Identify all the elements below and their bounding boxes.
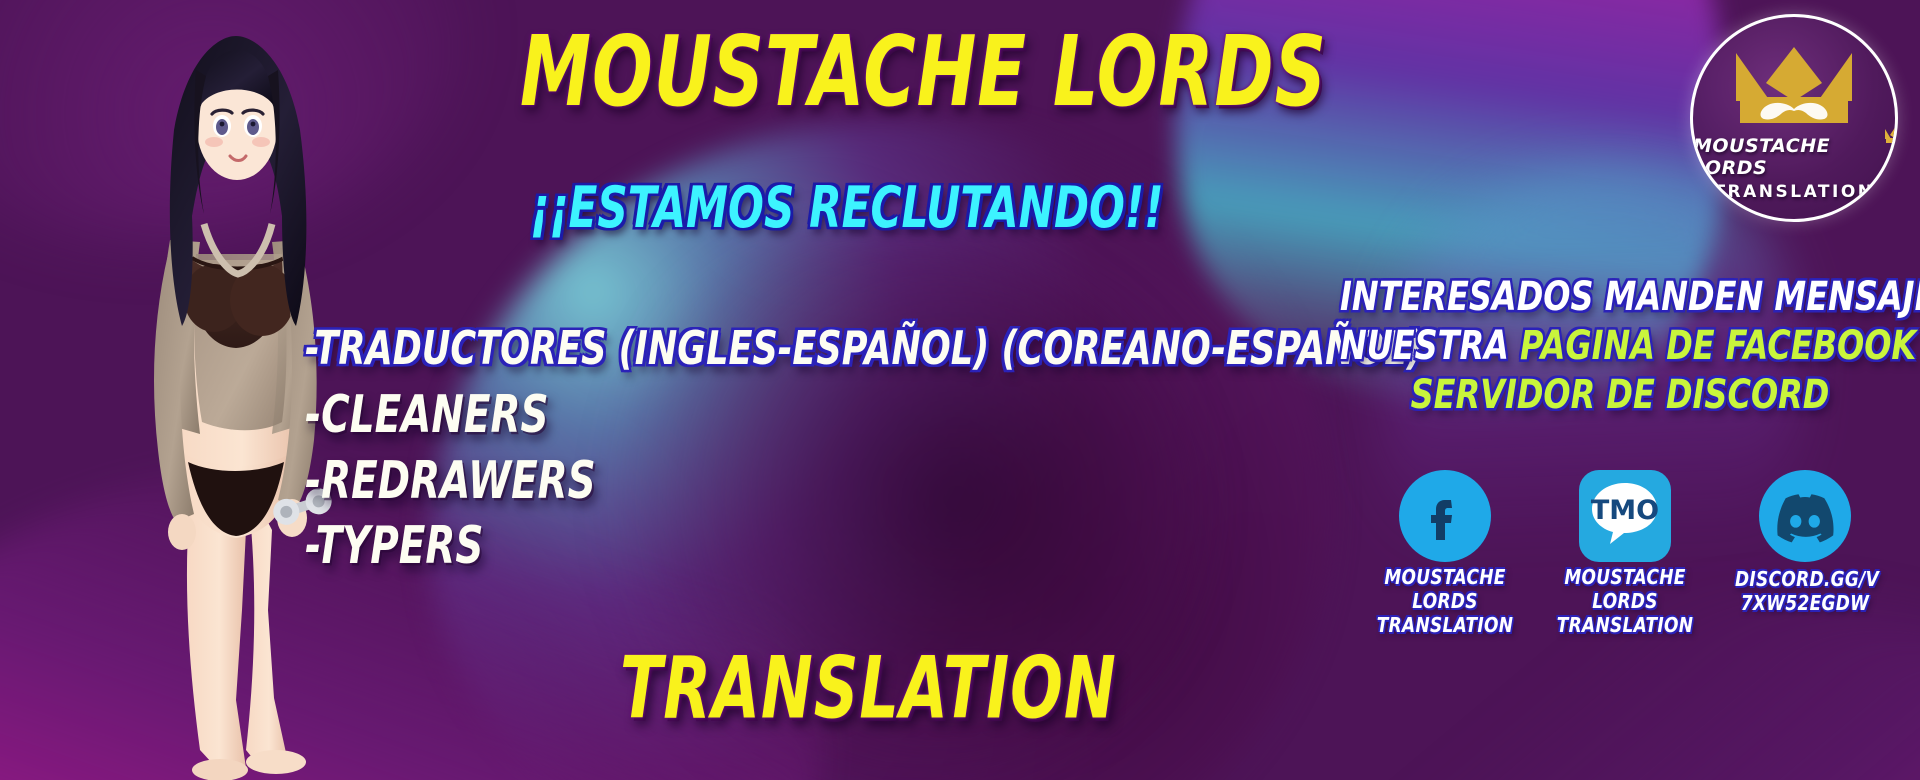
svg-text:TMO: TMO xyxy=(1591,495,1659,526)
social-tmo-label-2: LORDS xyxy=(1555,590,1695,614)
social-tmo[interactable]: TMO MOUSTACHE LORDS TRANSLATION xyxy=(1555,470,1695,632)
role-item-redrawers: -REDRAWERS xyxy=(305,455,1179,508)
page-title: MOUSTACHE LORDS xyxy=(520,14,1327,128)
social-discord-label-2: 7XW52EGDW xyxy=(1735,592,1875,616)
social-tmo-label-3: TRANSLATION xyxy=(1555,614,1695,638)
facebook-icon[interactable] xyxy=(1399,470,1491,562)
logo-text-line2: TRANSLATION xyxy=(1713,182,1874,202)
social-facebook-label-3: TRANSLATION xyxy=(1375,614,1515,638)
contact-block: INTERESADOS MANDEN MENSAJE EN NUESTRA PA… xyxy=(1340,280,1900,427)
recruiting-subtitle: ¡¡ESTAMOS RECLUTANDO!! xyxy=(530,175,1163,241)
recruitment-banner: MOUSTACHE LORDS ¡¡ESTAMOS RECLUTANDO!! -… xyxy=(0,0,1920,780)
contact-line-1: INTERESADOS MANDEN MENSAJE EN xyxy=(1340,276,1900,316)
logo-text-line1-label: MOUSTACHE LORDS xyxy=(1693,135,1830,179)
social-facebook-label: MOUSTACHE LORDS TRANSLATION xyxy=(1375,566,1515,638)
social-facebook-label-1: MOUSTACHE xyxy=(1375,566,1515,590)
social-discord-label: DISCORD.GG/V 7XW52EGDW xyxy=(1735,568,1875,616)
contact-line-3: SERVIDOR DE DISCORD xyxy=(1340,374,1900,414)
social-facebook-label-2: LORDS xyxy=(1375,590,1515,614)
logo-text-line1: MOUSTACHE LORDS xyxy=(1693,135,1895,179)
role-item-cleaners: -CLEANERS xyxy=(305,389,1179,442)
social-tmo-label: MOUSTACHE LORDS TRANSLATION xyxy=(1555,566,1695,638)
page-subtitle-translation: TRANSLATION xyxy=(620,638,1117,738)
role-item-typers: -TYPERS xyxy=(305,520,1179,573)
contact-line-2-suffix: O NUESTRO xyxy=(1916,321,1920,369)
role-item-translators: -TRADUCTORES (INGLES-ESPAÑOL) (COREANO-E… xyxy=(305,325,1179,373)
contact-line-2-prefix: NUESTRA xyxy=(1340,321,1520,369)
social-links-row: MOUSTACHE LORDS TRANSLATION TMO MOUSTACH… xyxy=(1345,470,1905,632)
contact-facebook-highlight: PAGINA DE FACEBOOK xyxy=(1520,321,1916,369)
social-tmo-label-1: MOUSTACHE xyxy=(1555,566,1695,590)
contact-line-2: NUESTRA PAGINA DE FACEBOOK O NUESTRO xyxy=(1340,325,1900,365)
social-discord[interactable]: DISCORD.GG/V 7XW52EGDW xyxy=(1735,470,1875,632)
social-facebook[interactable]: MOUSTACHE LORDS TRANSLATION xyxy=(1375,470,1515,632)
tmo-icon[interactable]: TMO xyxy=(1579,470,1671,562)
roles-list: -TRADUCTORES (INGLES-ESPAÑOL) (COREANO-E… xyxy=(305,325,1225,586)
discord-icon[interactable] xyxy=(1759,470,1851,562)
crown-moustache-icon xyxy=(1730,43,1858,129)
brand-logo-badge[interactable]: MOUSTACHE LORDS TRANSLATION xyxy=(1690,14,1898,222)
social-discord-label-1: DISCORD.GG/V xyxy=(1735,568,1875,592)
